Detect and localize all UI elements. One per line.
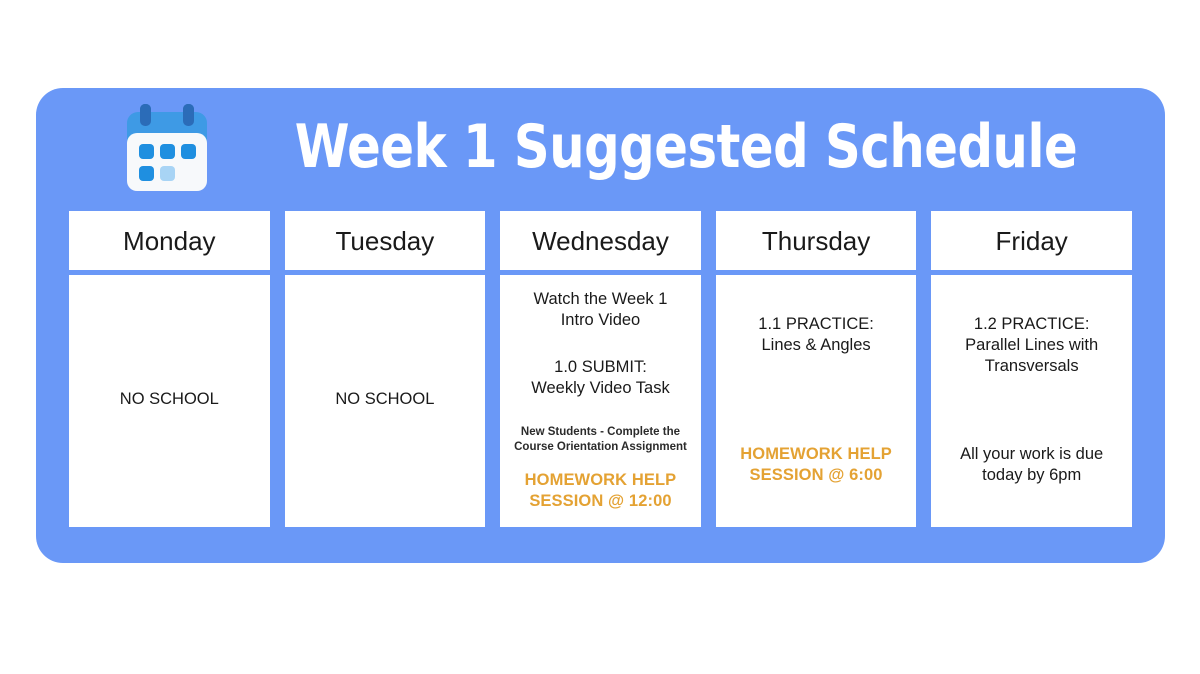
cell-text-line: Watch the Week 1 — [534, 289, 668, 310]
cell-text-line: Lines & Angles — [761, 335, 870, 356]
cell-text-line: Parallel Lines with — [965, 335, 1098, 356]
cell-text-line: NO SCHOOL — [335, 389, 434, 410]
cell-text-line: Weekly Video Task — [531, 378, 670, 399]
cell-block-submit-task: 1.0 SUBMIT: Weekly Video Task — [507, 357, 694, 399]
schedule-title-row: Week 1 Suggested Schedule — [36, 88, 1165, 206]
cell-text-line: today by 6pm — [982, 465, 1081, 486]
cell-block-due-note: All your work is due today by 6pm — [938, 444, 1125, 486]
cell-block: NO SCHOOL — [76, 389, 263, 410]
cell-text-line: 1.1 PRACTICE: — [758, 314, 874, 335]
day-body-friday[interactable]: 1.2 PRACTICE: Parallel Lines with Transv… — [931, 275, 1132, 527]
cell-block-intro-video: Watch the Week 1 Intro Video — [507, 289, 694, 331]
day-column-wednesday: Wednesday Watch the Week 1 Intro Video 1… — [500, 211, 701, 527]
cell-block-orientation-note: New Students - Complete the Course Orien… — [507, 425, 694, 454]
cell-block-practice: 1.1 PRACTICE: Lines & Angles — [723, 314, 910, 356]
page-title: Week 1 Suggested Schedule — [272, 88, 1100, 206]
cell-block: NO SCHOOL — [292, 389, 479, 410]
cell-text-line: 1.0 SUBMIT: — [554, 357, 647, 378]
cell-text-line: All your work is due — [960, 444, 1103, 465]
day-header-tuesday: Tuesday — [285, 211, 486, 270]
day-header-monday: Monday — [69, 211, 270, 270]
day-column-monday: Monday NO SCHOOL — [69, 211, 270, 527]
cell-block-homework-help: HOMEWORK HELP SESSION @ 6:00 — [723, 444, 910, 485]
cell-text-line: Intro Video — [561, 310, 641, 331]
day-body-wednesday[interactable]: Watch the Week 1 Intro Video 1.0 SUBMIT:… — [500, 275, 701, 527]
week-grid: Monday NO SCHOOL Tuesday NO SCHOOL W — [69, 211, 1132, 527]
day-body-monday[interactable]: NO SCHOOL — [69, 275, 270, 527]
homework-help-line: HOMEWORK HELP — [525, 470, 677, 491]
day-body-tuesday[interactable]: NO SCHOOL — [285, 275, 486, 527]
day-header-thursday: Thursday — [716, 211, 917, 270]
day-header-wednesday: Wednesday — [500, 211, 701, 270]
cell-block-homework-help: HOMEWORK HELP SESSION @ 12:00 — [507, 470, 694, 511]
day-column-thursday: Thursday 1.1 PRACTICE: Lines & Angles HO… — [716, 211, 917, 527]
slide-canvas: Week 1 Suggested Schedule Monday NO SCHO… — [0, 0, 1200, 674]
cell-block-practice: 1.2 PRACTICE: Parallel Lines with Transv… — [938, 314, 1125, 377]
day-column-friday: Friday 1.2 PRACTICE: Parallel Lines with… — [931, 211, 1132, 527]
homework-help-line: SESSION @ 6:00 — [750, 465, 883, 486]
cell-text-line: NO SCHOOL — [120, 389, 219, 410]
cell-text-line: Transversals — [985, 356, 1079, 377]
cell-text-line: Course Orientation Assignment — [514, 440, 687, 454]
schedule-panel: Week 1 Suggested Schedule Monday NO SCHO… — [36, 88, 1165, 563]
day-column-tuesday: Tuesday NO SCHOOL — [285, 211, 486, 527]
homework-help-line: SESSION @ 12:00 — [529, 491, 671, 512]
cell-text-line: New Students - Complete the — [521, 425, 680, 439]
day-header-friday: Friday — [931, 211, 1132, 270]
cell-text-line: 1.2 PRACTICE: — [974, 314, 1090, 335]
day-body-thursday[interactable]: 1.1 PRACTICE: Lines & Angles HOMEWORK HE… — [716, 275, 917, 527]
homework-help-line: HOMEWORK HELP — [740, 444, 892, 465]
calendar-icon — [120, 104, 218, 199]
